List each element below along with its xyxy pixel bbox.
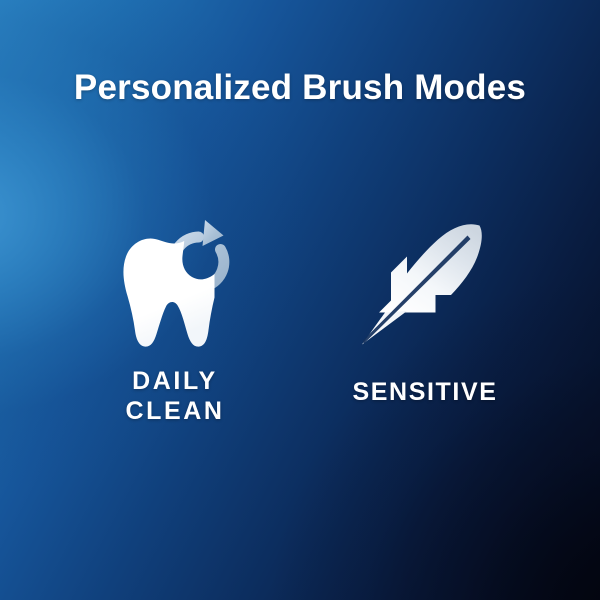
tooth-glyph <box>123 238 214 346</box>
mode-label-sensitive: SENSITIVE <box>353 378 498 408</box>
mode-label-line: SENSITIVE <box>353 378 498 408</box>
mode-list: DAILY CLEAN <box>0 215 600 426</box>
mode-item-sensitive[interactable]: SENSITIVE <box>300 215 550 408</box>
page-title: Personalized Brush Modes <box>0 68 600 108</box>
tooth-refresh-icon <box>110 218 240 358</box>
mode-item-daily-clean[interactable]: DAILY CLEAN <box>50 215 300 426</box>
brush-modes-panel: Personalized Brush Modes <box>0 0 600 600</box>
mode-icon-sensitive <box>355 215 495 360</box>
feather-tip-glyph <box>362 311 407 345</box>
mode-icon-daily-clean <box>110 215 240 360</box>
mode-label-line: CLEAN <box>125 397 224 427</box>
mode-label-daily-clean: DAILY CLEAN <box>125 367 224 426</box>
mode-label-line: DAILY <box>125 367 224 397</box>
feather-icon <box>355 215 495 360</box>
